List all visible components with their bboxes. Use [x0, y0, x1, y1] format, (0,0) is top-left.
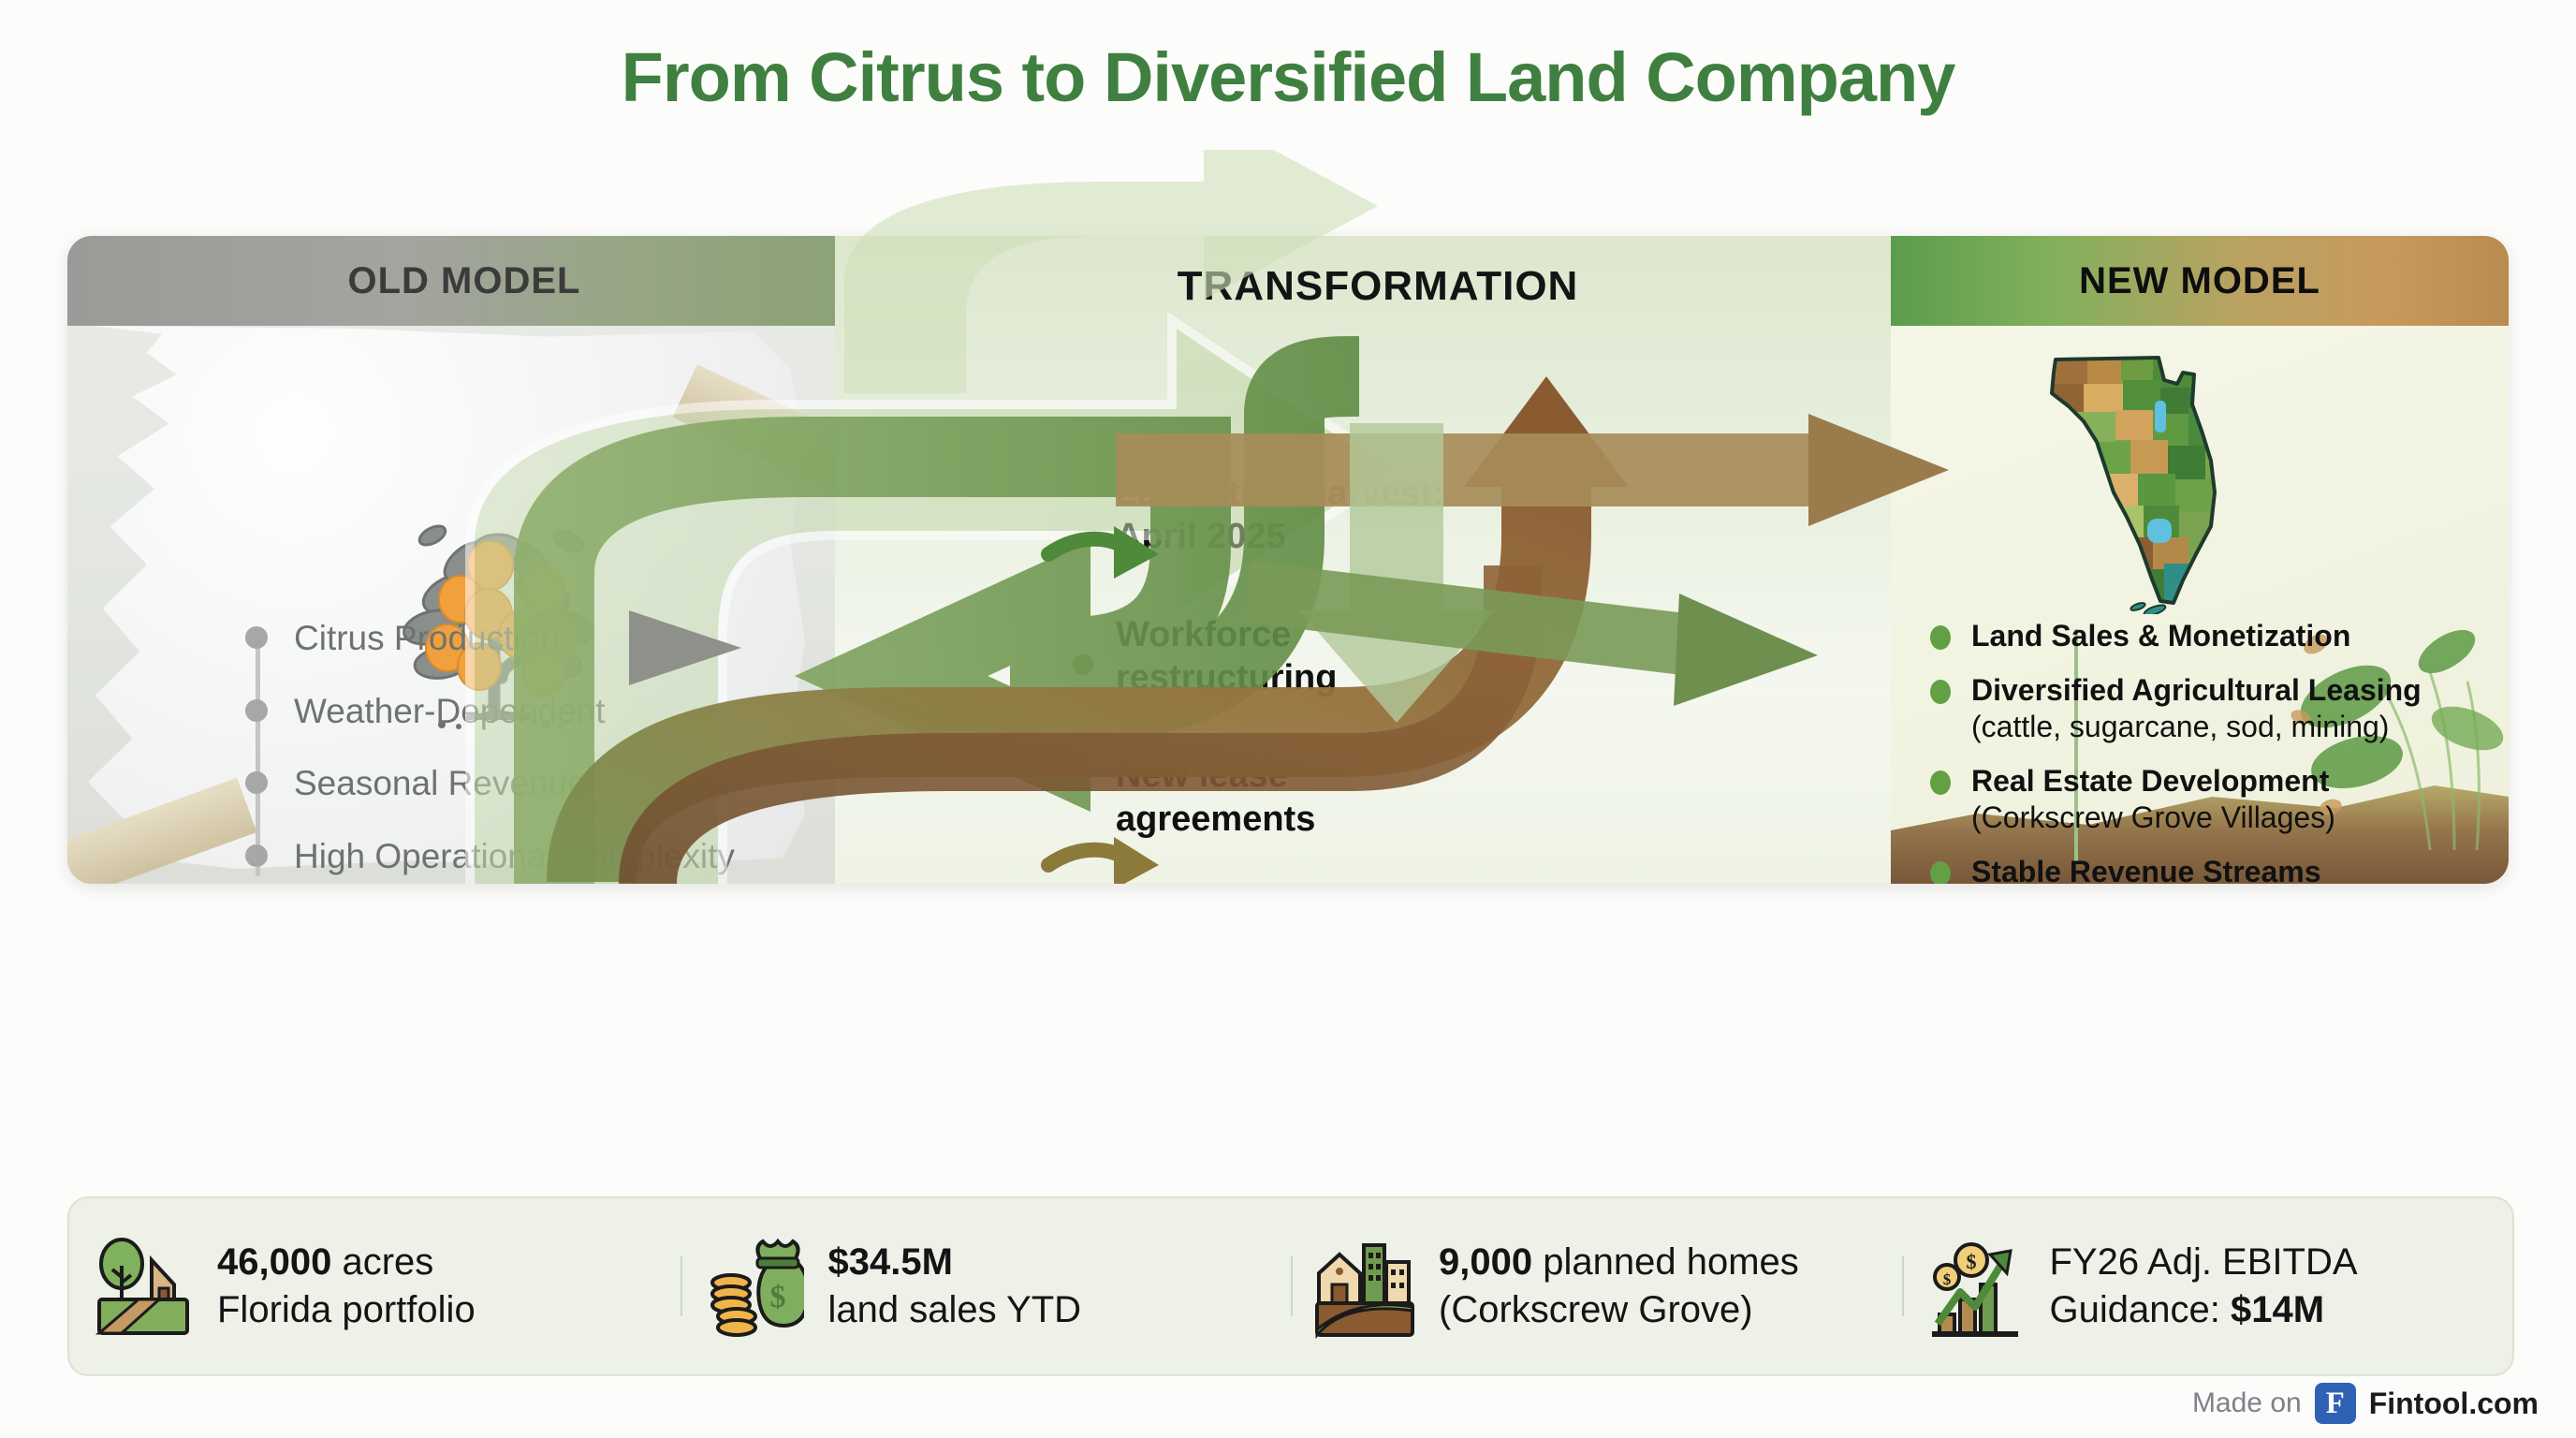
bullet-dot-icon: [1930, 861, 1951, 884]
stat-unit: planned homes: [1532, 1241, 1799, 1283]
bullet-dot-icon: [245, 771, 268, 794]
homes-icon: [1315, 1234, 1414, 1339]
stat-value: 9,000: [1439, 1241, 1532, 1283]
stat-acres: 46,000 acres Florida portfolio: [69, 1234, 681, 1339]
panel-old-model: OLD MODEL Citrus Production Weather-Depe…: [67, 236, 861, 884]
new-item-line1: Stable Revenue Streams: [1971, 854, 2507, 884]
stat-value: 46,000: [217, 1241, 331, 1283]
svg-text:$: $: [769, 1280, 785, 1314]
list-item: Last citrus harvest: April 2025: [1116, 472, 1584, 559]
stat-value: FY26 Adj. EBITDA: [2050, 1239, 2358, 1286]
transformation-item-line2: agreements: [1116, 798, 1584, 841]
stat-value: $34.5M: [828, 1241, 953, 1283]
bullet-dot-icon: [1073, 654, 1093, 675]
list-item: Workforce restructuring: [1116, 613, 1584, 700]
transformation-diagram-card: OLD MODEL Citrus Production Weather-Depe…: [67, 236, 2509, 884]
header-transformation: TRANSFORMATION: [835, 242, 1921, 331]
new-item-line1: Diversified Agricultural Leasing: [1971, 672, 2507, 708]
stat-sub: Guidance:: [2050, 1289, 2231, 1330]
transformation-item-line1: New lease: [1116, 754, 1584, 797]
panel-transformation: TRANSFORMATION Last citrus harvest: Apri…: [835, 236, 1921, 884]
stat-sub-bold: $14M: [2231, 1289, 2324, 1330]
new-model-list: Land Sales & Monetization Diversified Ag…: [1917, 618, 2507, 884]
stat-sub: (Corkscrew Grove): [1439, 1286, 1799, 1334]
stat-unit: acres: [331, 1241, 433, 1283]
header-new-model: NEW MODEL: [1891, 236, 2509, 326]
stat-text: 46,000 acres Florida portfolio: [217, 1239, 476, 1334]
list-item: Seasonal Revenue: [232, 763, 794, 804]
fintool-logo-icon: F: [2315, 1383, 2356, 1424]
transformation-list: Last citrus harvest: April 2025 Workforc…: [1116, 472, 1584, 884]
page-title: From Citrus to Diversified Land Company: [0, 39, 2576, 115]
old-model-list: Citrus Production Weather-Dependent Seas…: [232, 618, 794, 884]
list-item: Weather-Dependent: [232, 691, 794, 732]
bullet-dot-icon: [1930, 680, 1951, 704]
stat-planned-homes: 9,000 planned homes (Corkscrew Grove): [1291, 1234, 1902, 1339]
transformation-item-line1: Workforce: [1116, 613, 1584, 656]
list-item: Land Sales & Monetization: [1917, 618, 2507, 653]
new-item-line1: Land Sales & Monetization: [1971, 618, 2507, 653]
svg-text:$: $: [1966, 1250, 1976, 1273]
header-old-model: OLD MODEL: [67, 236, 861, 326]
bullet-dot-icon: [1930, 625, 1951, 650]
bullet-dot-icon: [245, 626, 268, 649]
stat-sub: land sales YTD: [828, 1286, 1082, 1334]
svg-text:$: $: [1942, 1270, 1951, 1288]
fintool-brand-label: Fintool.com: [2369, 1387, 2539, 1421]
bullet-dot-icon: [245, 844, 268, 867]
stat-ebitda-guidance: $$ FY26 Adj. EBITDA Guidance: $14M: [1902, 1234, 2513, 1339]
old-item-label: Citrus Production: [294, 619, 560, 657]
money-bag-icon: $: [705, 1234, 804, 1339]
list-item: High Operational Complexity: [232, 836, 794, 877]
old-item-label: Seasonal Revenue: [294, 764, 587, 802]
new-item-line2: (cattle, sugarcane, sod, mining): [1971, 709, 2507, 744]
growth-chart-icon: $$: [1926, 1234, 2026, 1339]
stat-text: 9,000 planned homes (Corkscrew Grove): [1439, 1239, 1799, 1334]
stats-bar: 46,000 acres Florida portfolio $ $34.5M …: [67, 1196, 2514, 1376]
panel-new-model: NEW MODEL: [1891, 236, 2509, 884]
transformation-item-line1: Last citrus harvest:: [1116, 472, 1584, 515]
old-item-label: Weather-Dependent: [294, 692, 606, 730]
stat-text: $34.5M land sales YTD: [828, 1239, 1082, 1334]
florida-map-icon: [2046, 352, 2280, 614]
bullet-dot-icon: [1930, 770, 1951, 795]
new-item-line2: (Corkscrew Grove Villages): [1971, 800, 2507, 835]
list-item: New lease agreements: [1116, 754, 1584, 841]
list-item: Diversified Agricultural Leasing (cattle…: [1917, 672, 2507, 744]
new-item-line1: Real Estate Development: [1971, 763, 2507, 799]
old-item-label: High Operational Complexity: [294, 837, 735, 875]
stat-sub: Florida portfolio: [217, 1286, 476, 1334]
made-on-label: Made on: [2192, 1387, 2302, 1419]
stat-text: FY26 Adj. EBITDA Guidance: $14M: [2050, 1239, 2358, 1334]
stat-land-sales: $ $34.5M land sales YTD: [681, 1234, 1292, 1339]
bullet-dot-icon: [245, 699, 268, 722]
tree-farm-icon: [94, 1234, 193, 1339]
list-item: Real Estate Development (Corkscrew Grove…: [1917, 763, 2507, 835]
list-item: Citrus Production: [232, 618, 794, 659]
footer-attribution: Made on F Fintool.com: [2192, 1382, 2539, 1425]
transformation-item-line2: restructuring: [1116, 656, 1584, 699]
transformation-item-line2: April 2025: [1116, 515, 1584, 558]
list-item: Stable Revenue Streams: [1917, 854, 2507, 884]
